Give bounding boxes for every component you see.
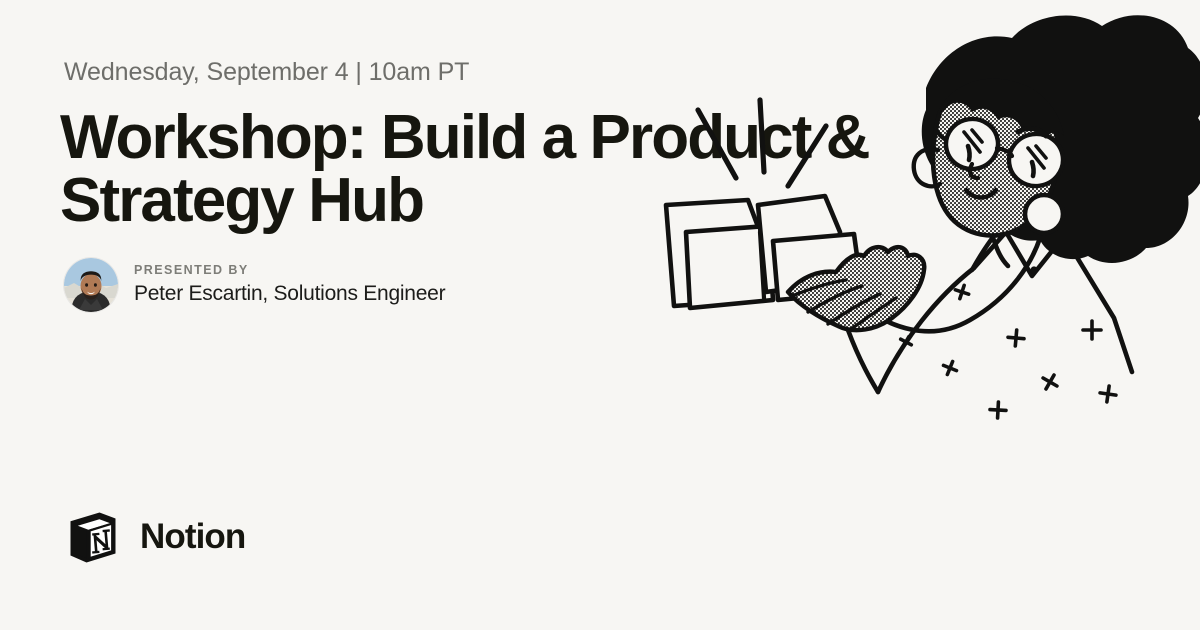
brand-name: Notion (140, 517, 245, 557)
presenter-block: PRESENTED BY Peter Escartin, Solutions E… (64, 258, 445, 312)
content-column: Wednesday, September 4 | 10am PT Worksho… (64, 0, 684, 630)
notion-cube-logo-icon (64, 508, 122, 566)
promo-card: Wednesday, September 4 | 10am PT Worksho… (0, 0, 1200, 630)
presented-by-label: PRESENTED BY (134, 263, 445, 278)
event-date-time: Wednesday, September 4 | 10am PT (64, 58, 469, 87)
person-reading-book-illustration (640, 0, 1200, 630)
presenter-name: Peter Escartin, Solutions Engineer (134, 281, 445, 307)
brand-lockup: Notion (64, 508, 245, 566)
presenter-text: PRESENTED BY Peter Escartin, Solutions E… (134, 263, 445, 307)
avatar (64, 258, 118, 312)
page-title: Workshop: Build a Product & Strategy Hub (60, 106, 920, 232)
